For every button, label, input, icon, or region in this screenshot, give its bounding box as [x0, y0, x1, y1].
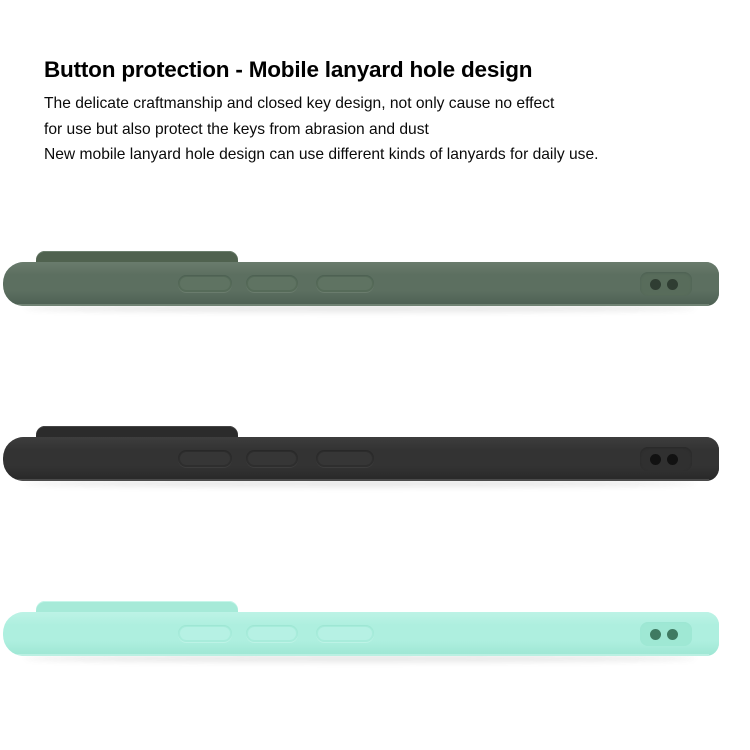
- body-top-highlight: [3, 437, 719, 450]
- lanyard-hole-icon: [650, 629, 661, 640]
- volume-up-button-inner: [180, 277, 230, 290]
- side-button-group: [178, 625, 368, 645]
- power-button[interactable]: [316, 625, 374, 642]
- phone-case-mint-green: [0, 582, 750, 692]
- power-button[interactable]: [316, 275, 374, 292]
- phone-drop-shadow: [24, 655, 696, 662]
- volume-down-button[interactable]: [246, 625, 298, 642]
- volume-up-button[interactable]: [178, 450, 232, 467]
- volume-up-button-inner: [180, 627, 230, 640]
- power-button[interactable]: [316, 450, 374, 467]
- description-line-1: The delicate craftmanship and closed key…: [44, 91, 720, 116]
- product-row-green: [0, 232, 750, 342]
- power-button-inner: [318, 277, 372, 290]
- power-button-inner: [318, 452, 372, 465]
- lanyard-hole-icon: [667, 629, 678, 640]
- product-row-black: [0, 407, 750, 517]
- lanyard-hole-recess: [640, 447, 692, 471]
- body-top-highlight: [3, 262, 719, 275]
- lanyard-hole-icon: [667, 454, 678, 465]
- description-line-2: for use but also protect the keys from a…: [44, 117, 720, 142]
- lanyard-hole-icon: [667, 279, 678, 290]
- volume-down-button-inner: [248, 452, 296, 465]
- product-row-mint: [0, 582, 750, 692]
- volume-down-button[interactable]: [246, 275, 298, 292]
- volume-down-button-inner: [248, 277, 296, 290]
- volume-down-button[interactable]: [246, 450, 298, 467]
- phone-case-black: [0, 407, 750, 517]
- body-bottom-rim: [15, 479, 709, 481]
- side-button-group: [178, 275, 368, 295]
- lanyard-hole-recess: [640, 272, 692, 296]
- power-button-inner: [318, 627, 372, 640]
- product-image-canvas: Button protection - Mobile lanyard hole …: [0, 0, 750, 750]
- volume-up-button[interactable]: [178, 625, 232, 642]
- lanyard-hole-icon: [650, 454, 661, 465]
- phone-drop-shadow: [24, 305, 696, 312]
- lanyard-hole-recess: [640, 622, 692, 646]
- phone-drop-shadow: [24, 480, 696, 487]
- volume-down-button-inner: [248, 627, 296, 640]
- body-bottom-rim: [15, 304, 709, 306]
- lanyard-hole-icon: [650, 279, 661, 290]
- description-line-3: New mobile lanyard hole design can use d…: [44, 142, 720, 167]
- phone-case-dark-green: [0, 232, 750, 342]
- volume-up-button[interactable]: [178, 275, 232, 292]
- marketing-copy-block: Button protection - Mobile lanyard hole …: [44, 56, 720, 167]
- volume-up-button-inner: [180, 452, 230, 465]
- body-bottom-rim: [15, 654, 709, 656]
- page-title: Button protection - Mobile lanyard hole …: [44, 56, 720, 84]
- body-top-highlight: [3, 612, 719, 625]
- side-button-group: [178, 450, 368, 470]
